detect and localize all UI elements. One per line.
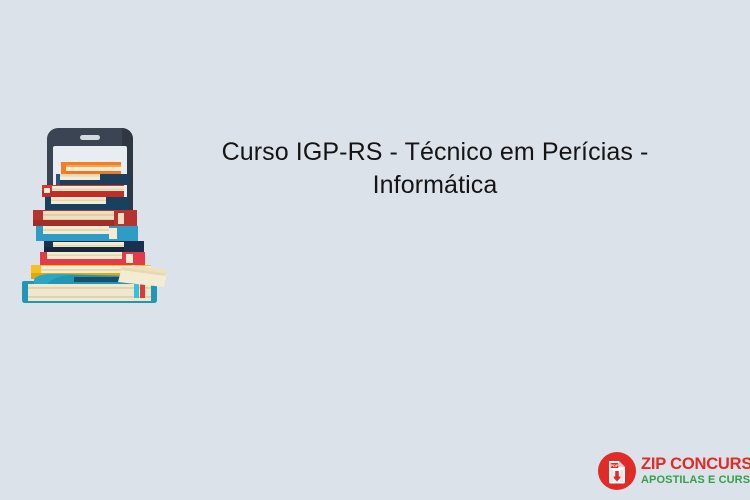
navy-book-top <box>56 174 130 185</box>
books-illustration <box>14 124 166 310</box>
zip-concursos-logo[interactable]: PDF ZIP CONCURSOS APOSTILAS E CURSOS <box>597 450 743 492</box>
lightblue-book <box>36 226 138 241</box>
blue-ribbon <box>134 284 139 298</box>
title-block: Curso IGP-RS - Técnico em Perícias - Inf… <box>196 136 674 202</box>
navy-book-third <box>44 241 144 252</box>
orange-book <box>61 162 121 174</box>
maroon-book <box>33 210 137 226</box>
crimson-book <box>40 252 145 265</box>
red-ribbon <box>140 284 145 298</box>
svg-text:PDF: PDF <box>611 463 620 468</box>
logo-secondary-text: APOSTILAS E CURSOS <box>641 475 750 486</box>
page-root: Curso IGP-RS - Técnico em Perícias - Inf… <box>0 0 750 500</box>
logo-text: ZIP CONCURSOS APOSTILAS E CURSOS <box>641 456 750 487</box>
pdf-download-icon: PDF <box>597 451 637 491</box>
logo-primary-text: ZIP CONCURSOS <box>641 456 750 473</box>
navy-book-second <box>45 197 129 210</box>
red-book-upper <box>42 185 124 197</box>
page-title: Curso IGP-RS - Técnico em Perícias - Inf… <box>196 136 674 202</box>
